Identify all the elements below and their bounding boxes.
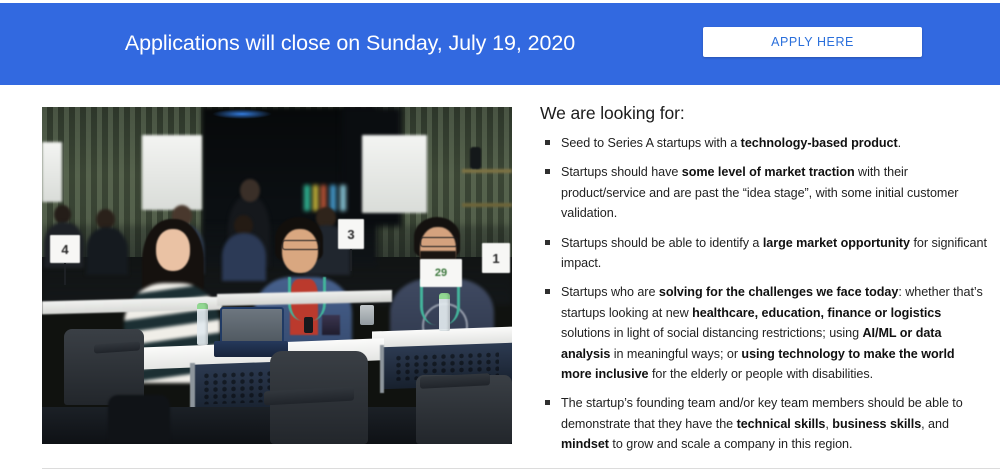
- photo-water-bottle-2: [439, 293, 450, 331]
- list-item-text: Startups who are solving for the challen…: [561, 285, 983, 381]
- photo-person-b2: [86, 227, 128, 275]
- list-item-text: Seed to Series A startups with a technol…: [561, 136, 901, 150]
- banner-headline: Applications will close on Sunday, July …: [0, 3, 700, 85]
- bullet-icon: [545, 400, 550, 405]
- list-item: Startups should be able to identify a la…: [540, 233, 988, 274]
- event-photo: 4 3 29 1: [42, 107, 512, 444]
- photo-notebook: [322, 315, 340, 335]
- photo-table-sign-3: 3: [338, 219, 364, 249]
- apply-here-button[interactable]: APPLY HERE: [703, 27, 922, 57]
- photo-table-sign-1: 1: [482, 243, 510, 273]
- announcement-banner: Applications will close on Sunday, July …: [0, 3, 1000, 85]
- photo-blue-light: [212, 109, 272, 119]
- list-item: Seed to Series A startups with a technol…: [540, 133, 988, 153]
- section-divider: [42, 468, 1000, 469]
- photo-head-standing: [240, 179, 260, 202]
- photo-phone-stand: [304, 317, 313, 333]
- photo-glasses-man-right: [420, 237, 458, 247]
- list-item-text: The startup’s founding team and/or key t…: [561, 396, 963, 451]
- photo-person-b4: [222, 233, 266, 281]
- page-title: We are looking for:: [540, 103, 988, 124]
- photo-glasses-man-center: [282, 240, 320, 250]
- photo-face-man-center: [282, 229, 318, 273]
- photo-shelf-upper: [462, 169, 512, 173]
- list-item: The startup’s founding team and/or key t…: [540, 393, 988, 454]
- list-item: Startups should have some level of marke…: [540, 162, 988, 223]
- photo-canvas: 4 3 29 1: [42, 107, 512, 444]
- bullet-icon: [545, 240, 550, 245]
- photo-whiteboard-far-left: [42, 142, 62, 202]
- content-area: 4 3 29 1 We are looking for: Seed to Ser…: [0, 85, 1000, 474]
- list-item: Startups who are solving for the challen…: [540, 282, 988, 384]
- bullet-icon: [545, 169, 550, 174]
- bullet-icon: [545, 289, 550, 294]
- photo-whiteboard-left: [142, 135, 202, 210]
- photo-table-sign-29: 29: [420, 259, 462, 287]
- requirements-column: We are looking for: Seed to Series A sta…: [540, 103, 988, 454]
- photo-sign-stem-4: [64, 263, 66, 285]
- bullet-icon: [545, 140, 550, 145]
- requirements-list: Seed to Series A startups with a technol…: [540, 133, 988, 454]
- photo-table-leg-3: [380, 345, 384, 393]
- photo-face-woman: [156, 229, 190, 271]
- photo-bag: [108, 395, 170, 444]
- photo-glass-cup: [360, 305, 374, 325]
- photo-whiteboard-right: [362, 135, 427, 213]
- photo-sign-stem-3: [350, 249, 352, 271]
- photo-chair-left: [64, 329, 144, 405]
- photo-canister: [470, 147, 481, 169]
- list-item-text: Startups should be able to identify a la…: [561, 236, 987, 270]
- list-item-text: Startups should have some level of marke…: [561, 165, 958, 220]
- photo-table-sign-4: 4: [50, 235, 80, 263]
- photo-water-bottle-1: [197, 303, 208, 345]
- photo-shelf-lower: [462, 203, 512, 207]
